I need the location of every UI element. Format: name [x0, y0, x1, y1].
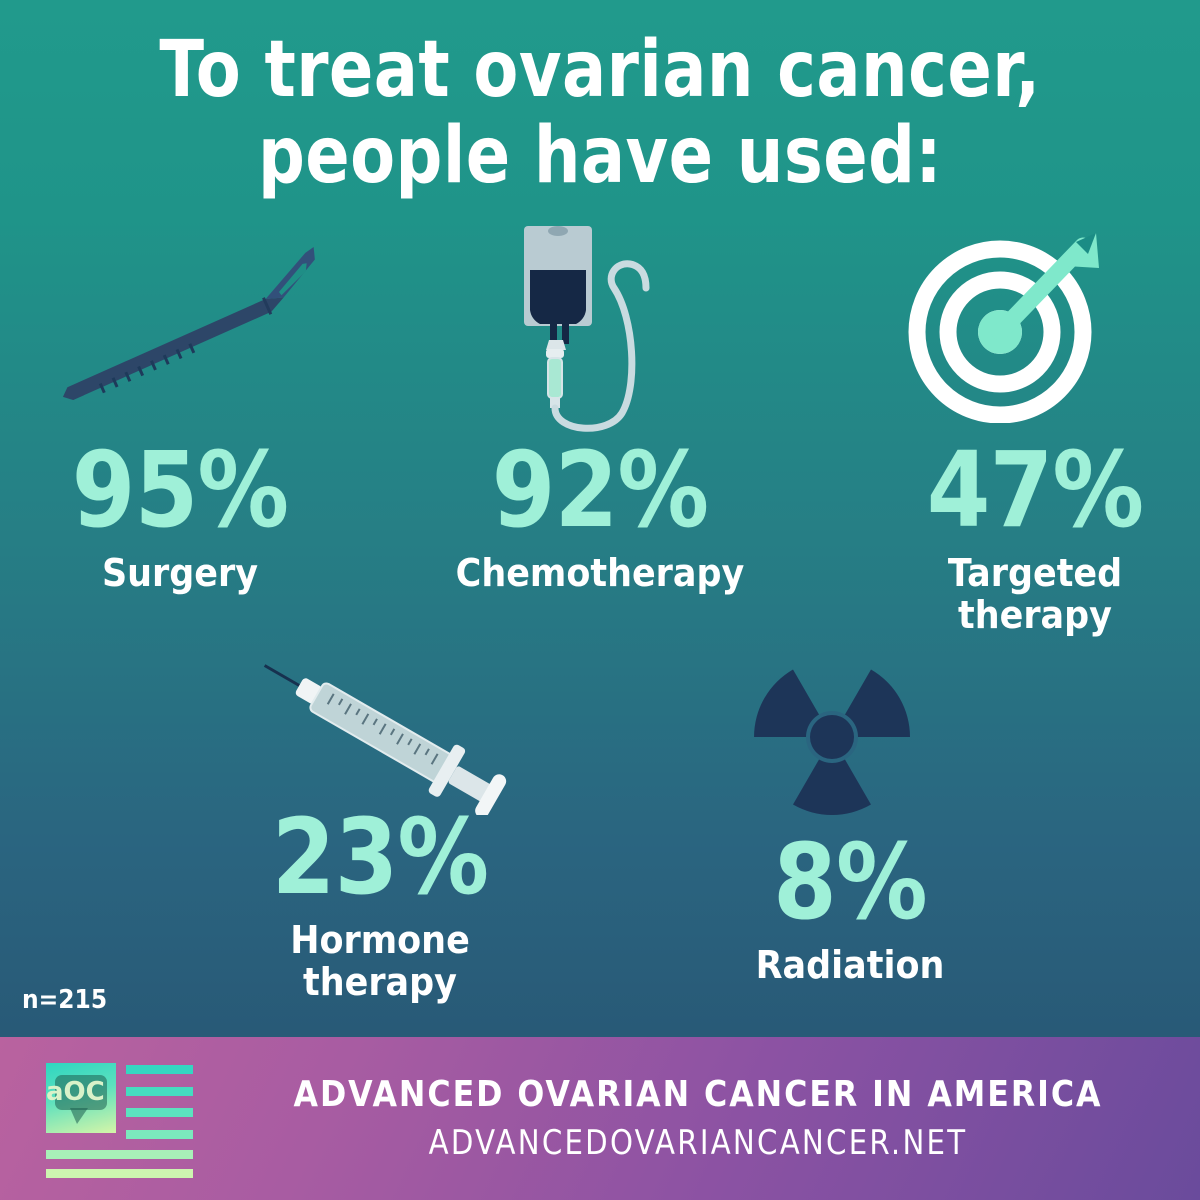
logo-line-4 [126, 1130, 193, 1139]
stat-chemotherapy-percent: 92% [424, 438, 776, 542]
title-line-2: people have used: [96, 120, 1104, 192]
stat-hormone-therapy-percent: 23% [235, 805, 525, 909]
page-title: To treat ovarian cancer, people have use… [96, 34, 1104, 192]
footer-branding: ADVANCED OVARIAN CANCER IN AMERICA ADVAN… [236, 1074, 1200, 1163]
stat-radiation: 8% Radiation [680, 830, 1020, 986]
stat-radiation-label: Radiation [694, 944, 1007, 986]
stat-chemotherapy-label: Chemotherapy [416, 552, 784, 594]
stat-targeted-therapy: 47% Targeted therapy [875, 438, 1195, 636]
iv-bag-icon [488, 218, 678, 443]
brand-name: ADVANCED OVARIAN CANCER IN AMERICA [291, 1074, 1104, 1115]
logo-text: aOC [46, 1075, 98, 1110]
sample-size-note: n=215 [22, 985, 107, 1015]
aoc-logo[interactable]: aOC [46, 1063, 236, 1175]
brand-url[interactable]: ADVANCEDOVARIANCANCER.NET [301, 1123, 1096, 1163]
footer-bar: aOC ADVANCED OVARIAN CANCER IN AMERICA A… [0, 1037, 1200, 1200]
logo-line-6 [46, 1169, 193, 1178]
stat-hormone-therapy: 23% Hormone therapy [215, 805, 545, 1003]
syringe-icon [240, 655, 530, 815]
speech-bubble-tail-icon [70, 1108, 88, 1124]
stat-chemotherapy: 92% Chemotherapy [400, 438, 800, 594]
stat-targeted-therapy-label-line-2: therapy [888, 594, 1182, 636]
stat-hormone-therapy-label: Hormone therapy [228, 919, 532, 1003]
stat-hormone-therapy-label-line-1: Hormone [228, 919, 532, 961]
stat-surgery: 95% Surgery [15, 438, 345, 594]
radiation-icon [720, 655, 945, 830]
stat-targeted-therapy-label-line-1: Targeted [888, 552, 1182, 594]
stat-targeted-therapy-percent: 47% [894, 438, 1176, 542]
logo-line-5 [46, 1150, 193, 1159]
stat-surgery-label: Surgery [28, 552, 332, 594]
logo-line-3 [126, 1108, 193, 1117]
stat-radiation-percent: 8% [700, 830, 999, 934]
logo-line-1 [126, 1065, 193, 1074]
scalpel-icon [40, 245, 350, 430]
stat-hormone-therapy-label-line-2: therapy [228, 961, 532, 1003]
stat-surgery-percent: 95% [35, 438, 325, 542]
stat-targeted-therapy-label: Targeted therapy [888, 552, 1182, 636]
target-arrow-icon [900, 228, 1125, 423]
title-line-1: To treat ovarian cancer, [96, 34, 1104, 106]
logo-line-2 [126, 1087, 193, 1096]
infographic-canvas: To treat ovarian cancer, people have use… [0, 0, 1200, 1200]
